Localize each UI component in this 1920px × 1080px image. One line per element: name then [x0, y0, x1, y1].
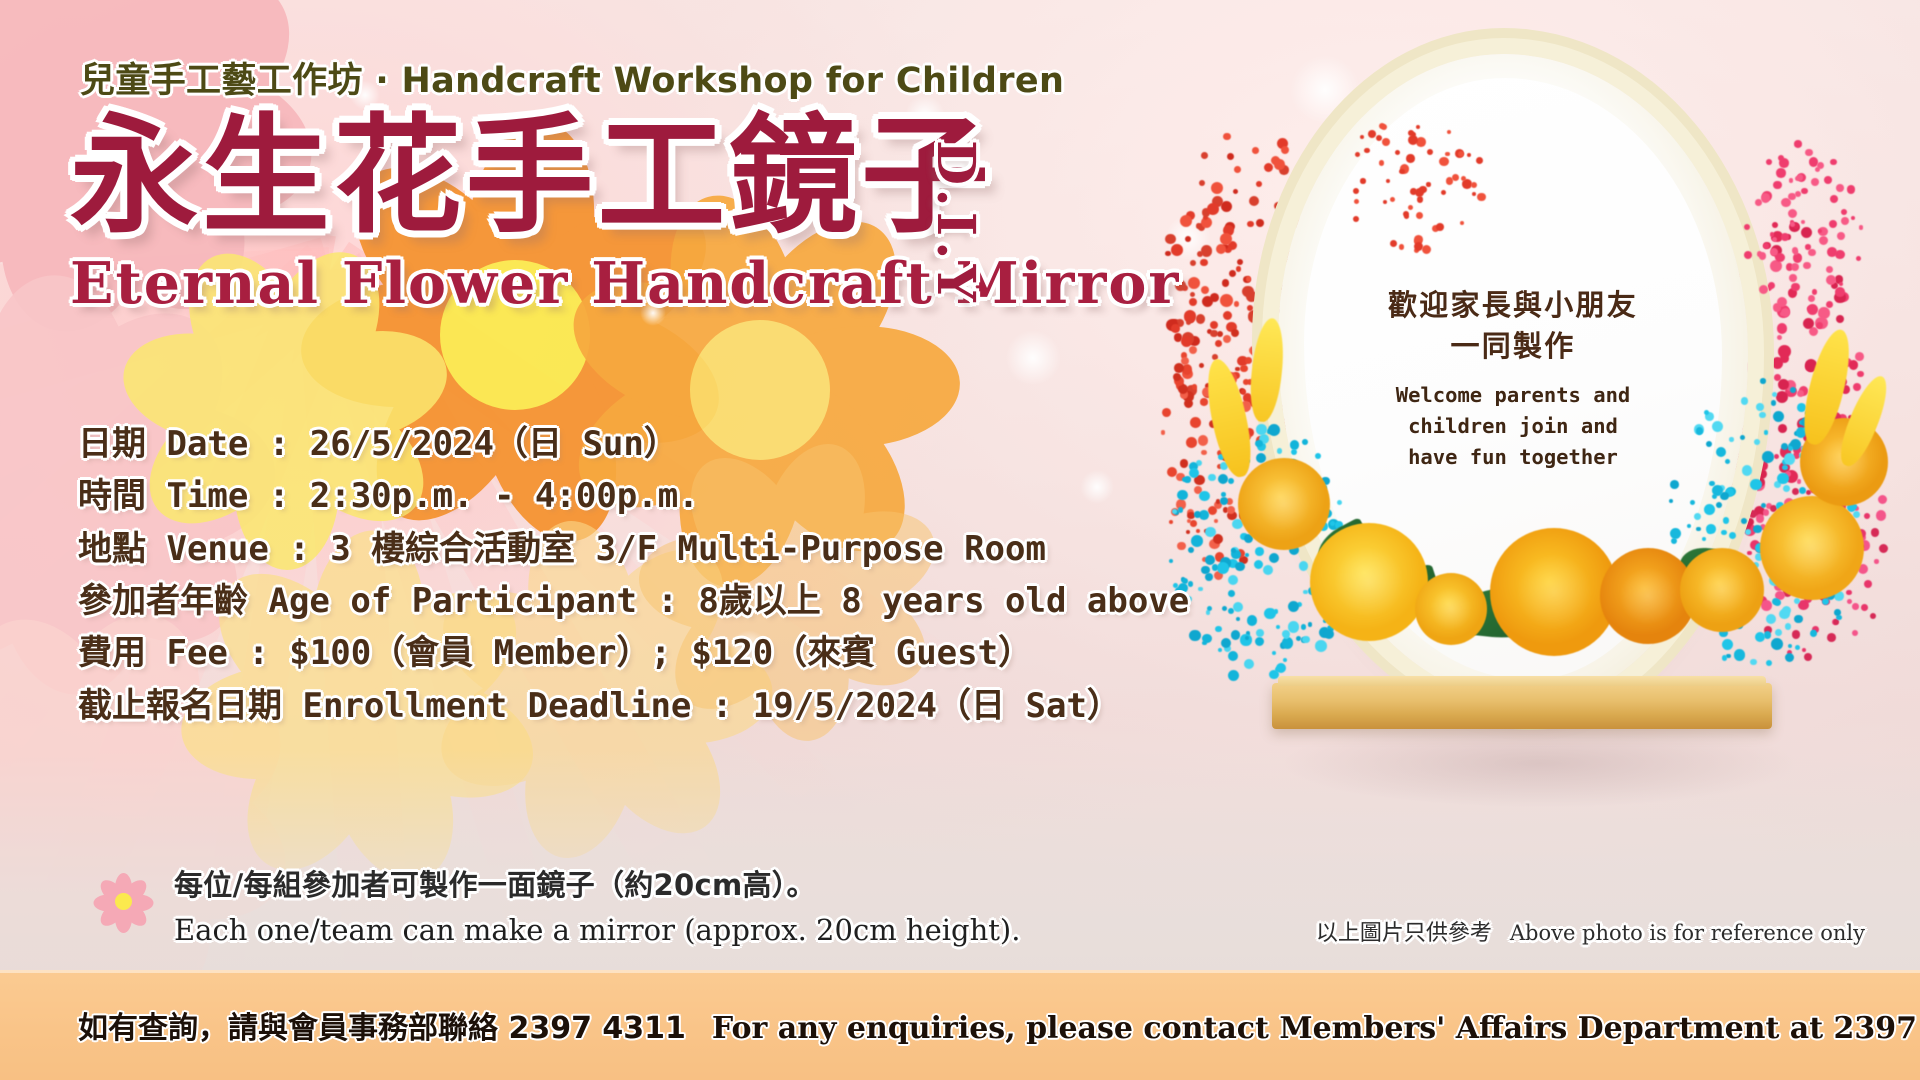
- floral-element: [1208, 474, 1215, 481]
- floral-element: [1874, 559, 1879, 564]
- floral-element: [1171, 324, 1180, 333]
- floral-element: [1190, 417, 1201, 428]
- floral-element: [1274, 159, 1284, 169]
- floral-element: [1781, 233, 1789, 241]
- floral-element: [1839, 282, 1843, 286]
- floral-element: [1773, 411, 1784, 422]
- floral-element: [1847, 599, 1852, 604]
- floral-element: [1760, 378, 1766, 384]
- floral-element: [1876, 510, 1886, 520]
- event-detail-line-2: 時間 Time : 2:30p.m. - 4:00p.m.: [78, 470, 1118, 522]
- floral-element: [1277, 448, 1282, 453]
- floral-element: [1741, 518, 1747, 524]
- floral-element: [1744, 268, 1756, 280]
- floral-element: [1797, 479, 1801, 483]
- floral-element: [1233, 602, 1243, 612]
- mirror-welcome-zh-line1: 歡迎家長與小朋友: [1388, 285, 1638, 326]
- floral-element: [1803, 262, 1810, 269]
- floral-element: [1299, 561, 1309, 571]
- diy-label: D.I.Y: [925, 140, 986, 307]
- floral-element: [1808, 295, 1816, 303]
- floral-element: [1218, 474, 1228, 484]
- floral-element: [1759, 412, 1766, 419]
- flower-highlight: [1617, 565, 1678, 626]
- floral-element: [1298, 176, 1306, 184]
- floral-element: [1252, 147, 1259, 154]
- floral-element: [1283, 658, 1287, 662]
- floral-element: [1256, 219, 1264, 227]
- floral-element: [1851, 216, 1855, 220]
- floral-element: [1272, 439, 1277, 444]
- floral-element: [1830, 195, 1838, 203]
- floral-element: [1704, 504, 1715, 515]
- floral-element: [1247, 305, 1253, 311]
- floral-element: [1775, 629, 1782, 636]
- floral-element: [1237, 259, 1243, 265]
- mirror-drop-shadow: [1280, 718, 1800, 808]
- floral-element: [1417, 196, 1423, 202]
- floral-element: [1228, 590, 1235, 597]
- floral-element: [1795, 191, 1801, 197]
- page-title: 永生花手工鏡子: [70, 108, 1180, 246]
- floral-element: [1799, 487, 1806, 494]
- floral-element: [1849, 360, 1859, 370]
- floral-element: [1220, 294, 1233, 307]
- mirror-welcome-en-line1: Welcome parents and: [1396, 380, 1631, 411]
- floral-element: [1215, 340, 1222, 347]
- floral-element: [1734, 649, 1745, 660]
- floral-element: [1268, 424, 1280, 436]
- floral-element: [1747, 551, 1752, 556]
- floral-element: [1269, 670, 1279, 680]
- floral-element: [1777, 297, 1787, 307]
- floral-element: [1792, 488, 1799, 495]
- floral-element: [1188, 547, 1194, 553]
- floral-element: [1248, 310, 1261, 323]
- floral-element: [1802, 648, 1806, 652]
- floral-element: [1291, 449, 1297, 455]
- floral-element: [1805, 244, 1810, 249]
- floral-element: [1315, 640, 1327, 652]
- note-text: 每位/每組參加者可製作一面鏡子（約20cm高）。 Each one/team c…: [174, 862, 1020, 947]
- floral-element: [1857, 371, 1864, 378]
- floral-element: [1777, 335, 1782, 340]
- floral-element: [1764, 631, 1771, 638]
- floral-element: [1812, 289, 1817, 294]
- floral-element: [1859, 225, 1863, 229]
- floral-element: [1436, 223, 1444, 231]
- floral-element: [1218, 648, 1222, 652]
- floral-element: [1308, 622, 1313, 627]
- floral-element: [1801, 227, 1812, 238]
- floral-element: [1189, 630, 1200, 641]
- floral-element: [1781, 198, 1791, 208]
- marigold-flower: [1310, 523, 1428, 641]
- floral-element: [1712, 494, 1717, 499]
- floral-element: [1221, 492, 1226, 497]
- floral-element: [1773, 181, 1781, 189]
- floral-element: [1777, 323, 1787, 333]
- floral-element: [1284, 634, 1289, 639]
- floral-element: [1744, 224, 1750, 230]
- floral-element: [1205, 573, 1213, 581]
- floral-element: [1199, 180, 1206, 187]
- floral-element: [1785, 623, 1791, 629]
- floral-element: [1169, 559, 1173, 563]
- floral-element: [1228, 575, 1238, 585]
- floral-element: [1399, 169, 1405, 175]
- mirror-welcome-en: Welcome parents and children join and ha…: [1396, 380, 1631, 473]
- floral-element: [1729, 532, 1736, 539]
- poster-title-block: 永生花手工鏡子 Eternal Flower Handcraft Mirror: [70, 108, 1180, 317]
- floral-element: [1244, 659, 1254, 669]
- floral-element: [1235, 367, 1240, 372]
- floral-element: [1759, 252, 1767, 260]
- floral-element: [1458, 151, 1464, 157]
- floral-element: [1706, 441, 1712, 447]
- floral-element: [1771, 638, 1783, 650]
- floral-element: [1169, 520, 1173, 524]
- floral-element: [1227, 153, 1234, 160]
- floral-element: [1216, 244, 1226, 254]
- floral-element: [1694, 513, 1701, 520]
- floral-element: [1795, 645, 1800, 650]
- floral-element: [1790, 387, 1796, 393]
- floral-element: [1223, 133, 1231, 141]
- floral-element: [1286, 204, 1292, 210]
- floral-element: [1826, 266, 1833, 273]
- floral-element: [1246, 291, 1257, 302]
- mirror-photo-card: 歡迎家長與小朋友 一同製作 Welcome parents and childr…: [1160, 28, 1900, 908]
- photo-reference-zh: 以上圖片只供參考: [1316, 915, 1492, 947]
- floral-element: [1221, 201, 1232, 212]
- note-block: 每位/每組參加者可製作一面鏡子（約20cm高）。 Each one/team c…: [92, 862, 1020, 947]
- floral-element: [1189, 298, 1197, 306]
- floral-element: [1180, 215, 1192, 227]
- floral-element: [1789, 274, 1797, 282]
- floral-element: [1766, 159, 1772, 165]
- floral-element: [1841, 217, 1849, 225]
- floral-element: [1670, 480, 1679, 489]
- floral-element: [1222, 606, 1227, 611]
- floral-element: [1756, 514, 1765, 523]
- floral-element: [1827, 633, 1836, 642]
- floral-element: [1186, 530, 1190, 534]
- floral-element: [1201, 566, 1210, 575]
- mirror-welcome-zh-line2: 一同製作: [1388, 326, 1638, 367]
- floral-element: [1784, 453, 1795, 464]
- floral-element: [1467, 153, 1471, 157]
- floral-element: [1808, 249, 1816, 257]
- floral-element: [1852, 630, 1859, 637]
- floral-element: [1222, 279, 1229, 286]
- floral-element: [1249, 196, 1259, 206]
- floral-element: [1746, 361, 1758, 373]
- note-text-zh: 每位/每組參加者可製作一面鏡子（約20cm高）。: [174, 862, 1020, 904]
- floral-element: [1228, 478, 1234, 484]
- floral-element: [1778, 379, 1789, 390]
- floral-element: [1233, 189, 1238, 194]
- photo-reference-caption: 以上圖片只供參考 Above photo is for reference on…: [1316, 915, 1865, 947]
- floral-element: [1395, 150, 1400, 155]
- floral-element: [1834, 609, 1841, 616]
- floral-element: [1741, 397, 1748, 404]
- floral-element: [1778, 424, 1787, 433]
- marigold-flower: [1760, 496, 1864, 600]
- floral-element: [1162, 408, 1171, 417]
- floral-element: [1753, 525, 1761, 533]
- floral-element: [1426, 182, 1430, 186]
- floral-element: [1816, 322, 1823, 329]
- floral-element: [1824, 176, 1832, 184]
- floral-element: [1207, 203, 1219, 215]
- floral-element: [1202, 296, 1213, 307]
- floral-element: [1477, 193, 1485, 201]
- floral-element: [1879, 544, 1888, 553]
- floral-element: [1289, 195, 1297, 203]
- floral-element: [1198, 435, 1209, 446]
- floral-element: [1383, 200, 1387, 204]
- floral-element: [1190, 292, 1195, 297]
- floral-element: [1199, 491, 1209, 501]
- floral-element: [1829, 220, 1837, 228]
- flower-icon: [92, 870, 154, 932]
- floral-element: [1846, 590, 1851, 595]
- floral-element: [1764, 430, 1768, 434]
- floral-element: [1177, 542, 1185, 550]
- marigold-flower: [1415, 573, 1487, 645]
- floral-element: [1185, 236, 1191, 242]
- floral-element: [1255, 547, 1264, 556]
- floral-element: [1788, 209, 1797, 218]
- floral-element: [1206, 610, 1210, 614]
- floral-element: [1722, 655, 1727, 660]
- floral-element: [1817, 162, 1824, 169]
- floral-element: [1223, 311, 1232, 320]
- floral-element: [1785, 653, 1794, 662]
- floral-element: [1794, 250, 1799, 255]
- floral-element: [1766, 660, 1772, 666]
- floral-element: [1228, 670, 1239, 681]
- floral-element: [1196, 314, 1205, 323]
- floral-element: [1835, 287, 1845, 297]
- floral-element: [1210, 321, 1218, 329]
- floral-element: [1227, 506, 1235, 514]
- floral-element: [1750, 297, 1756, 303]
- floral-element: [1836, 315, 1844, 323]
- floral-element: [1264, 608, 1275, 619]
- flower-highlight: [1695, 563, 1749, 617]
- floral-element: [1234, 166, 1241, 173]
- floral-element: [1783, 485, 1790, 492]
- floral-element: [1288, 601, 1299, 612]
- floral-element: [1759, 285, 1768, 294]
- floral-element: [1256, 629, 1264, 637]
- floral-element: [1236, 617, 1240, 621]
- floral-element: [1353, 188, 1359, 194]
- floral-element: [1791, 283, 1799, 291]
- floral-element: [1670, 528, 1681, 539]
- floral-element: [1853, 383, 1861, 391]
- floral-element: [1174, 363, 1184, 373]
- floral-element: [1756, 403, 1764, 411]
- floral-element: [1410, 188, 1417, 195]
- floral-element: [1797, 390, 1804, 397]
- floral-element: [1723, 517, 1729, 523]
- floral-element: [1847, 185, 1855, 193]
- floral-element: [1774, 454, 1779, 459]
- poster-kicker: 兒童手工藝工作坊 · Handcraft Workshop for Childr…: [80, 52, 1064, 103]
- floral-element: [1231, 630, 1240, 639]
- floral-element: [1302, 636, 1310, 644]
- floral-element: [1190, 260, 1196, 266]
- floral-element: [1215, 626, 1222, 633]
- floral-element: [1247, 615, 1258, 626]
- floral-element: [1360, 135, 1364, 139]
- floral-element: [1856, 256, 1861, 261]
- floral-element: [1776, 168, 1785, 177]
- floral-element: [1827, 247, 1837, 257]
- floral-element: [1763, 344, 1771, 352]
- floral-element: [1301, 624, 1307, 630]
- floral-element: [1801, 220, 1805, 224]
- marigold-flower: [1680, 548, 1764, 632]
- floral-element: [1240, 365, 1247, 372]
- floral-element: [1754, 439, 1760, 445]
- floral-element: [1247, 221, 1253, 227]
- floral-element: [1864, 580, 1872, 588]
- floral-element: [1788, 644, 1792, 648]
- floral-element: [1776, 391, 1789, 404]
- floral-element: [1255, 637, 1264, 646]
- floral-element: [1706, 524, 1716, 534]
- floral-element: [1236, 266, 1241, 271]
- note-text-en: Each one/team can make a mirror (approx.…: [174, 913, 1020, 947]
- floral-element: [1220, 497, 1228, 505]
- mirror-welcome-en-line3: have fun together: [1396, 442, 1631, 473]
- floral-element: [1235, 562, 1244, 571]
- floral-element: [1766, 614, 1776, 624]
- floral-element: [1207, 606, 1212, 611]
- floral-element: [1830, 159, 1837, 166]
- floral-element: [1217, 562, 1229, 574]
- floral-element: [1871, 528, 1879, 536]
- floral-element: [1804, 653, 1812, 661]
- floral-element: [1275, 217, 1282, 224]
- floral-element: [1201, 286, 1209, 294]
- floral-element: [1445, 152, 1449, 156]
- floral-element: [1763, 243, 1769, 249]
- floral-element: [1777, 473, 1789, 485]
- floral-element: [1761, 193, 1770, 202]
- footer-contact-en: For any enquiries, please contact Member…: [712, 1011, 1920, 1046]
- floral-element: [1214, 519, 1218, 523]
- floral-element: [1744, 443, 1751, 450]
- floral-element: [1198, 587, 1203, 592]
- floral-element: [1256, 181, 1262, 187]
- footer-top-edge: [0, 970, 1920, 973]
- floral-element: [1245, 357, 1252, 364]
- event-details-list: 日期 Date : 26/5/2024（日 Sun）時間 Time : 2:30…: [78, 418, 1118, 732]
- flower-highlight: [1255, 475, 1314, 534]
- floral-element: [1722, 639, 1733, 650]
- floral-element: [1408, 130, 1414, 136]
- floral-element: [1192, 384, 1197, 389]
- marigold-flower: [1238, 458, 1330, 550]
- floral-element: [1794, 615, 1802, 623]
- floral-element: [1878, 495, 1887, 504]
- floral-element: [1721, 530, 1727, 536]
- floral-element: [1762, 451, 1774, 463]
- floral-element: [1752, 334, 1759, 341]
- floral-element: [1254, 560, 1263, 569]
- floral-element: [1211, 182, 1223, 194]
- floral-element: [1276, 625, 1280, 629]
- floral-element: [1368, 130, 1376, 138]
- floral-element: [1416, 137, 1426, 147]
- floral-element: [1476, 157, 1483, 164]
- flower-center: [115, 893, 132, 910]
- event-detail-line-5: 費用 Fee : $100（會員 Member）; $120（來賓 Guest）: [78, 627, 1118, 679]
- floral-element: [1406, 154, 1414, 162]
- floral-element: [1852, 603, 1859, 610]
- mirror-welcome-zh: 歡迎家長與小朋友 一同製作: [1388, 285, 1638, 367]
- floral-element: [1177, 490, 1187, 500]
- floral-element: [1864, 513, 1870, 519]
- floral-element: [1780, 312, 1784, 316]
- floral-element: [1173, 373, 1181, 381]
- floral-element: [1826, 301, 1833, 308]
- floral-element: [1729, 437, 1733, 441]
- floral-element: [1200, 398, 1207, 405]
- floral-element: [1178, 507, 1183, 512]
- floral-element: [1811, 178, 1819, 186]
- floral-element: [1837, 232, 1845, 240]
- floral-element: [1447, 130, 1451, 134]
- floral-element: [1399, 244, 1404, 249]
- floral-element: [1205, 527, 1216, 538]
- floral-element: [1234, 301, 1239, 306]
- floral-element: [1452, 174, 1459, 181]
- floral-element: [1789, 178, 1793, 182]
- floral-element: [1763, 509, 1770, 516]
- floral-element: [1794, 140, 1801, 147]
- floral-element: [1189, 346, 1197, 354]
- footer-inner: 如有查詢，請與會員事務部聯絡 2397 4311 For any enquiri…: [0, 1003, 1920, 1047]
- floral-element: [1810, 630, 1817, 637]
- floral-element: [1263, 565, 1273, 575]
- event-detail-line-4: 參加者年齡 Age of Participant : 8歲以上 8 years …: [78, 575, 1118, 627]
- floral-element: [1774, 599, 1781, 606]
- flower-highlight: [1331, 544, 1407, 620]
- floral-element: [1792, 630, 1800, 638]
- floral-element: [1196, 529, 1200, 533]
- floral-element: [1855, 352, 1864, 361]
- floral-element: [1750, 659, 1757, 666]
- floral-element: [1191, 535, 1203, 547]
- floral-element: [1188, 277, 1200, 289]
- floral-element: [1161, 430, 1166, 435]
- footer-contact-zh: 如有查詢，請與會員事務部聯絡 2397 4311: [78, 1003, 686, 1047]
- floral-element: [1772, 392, 1777, 397]
- floral-element: [1755, 632, 1765, 642]
- floral-element: [1408, 205, 1413, 210]
- floral-element: [1303, 590, 1308, 595]
- floral-element: [1791, 263, 1799, 271]
- floral-element: [1228, 651, 1238, 661]
- floral-element: [1819, 236, 1829, 246]
- mirror-wooden-base: [1272, 683, 1772, 729]
